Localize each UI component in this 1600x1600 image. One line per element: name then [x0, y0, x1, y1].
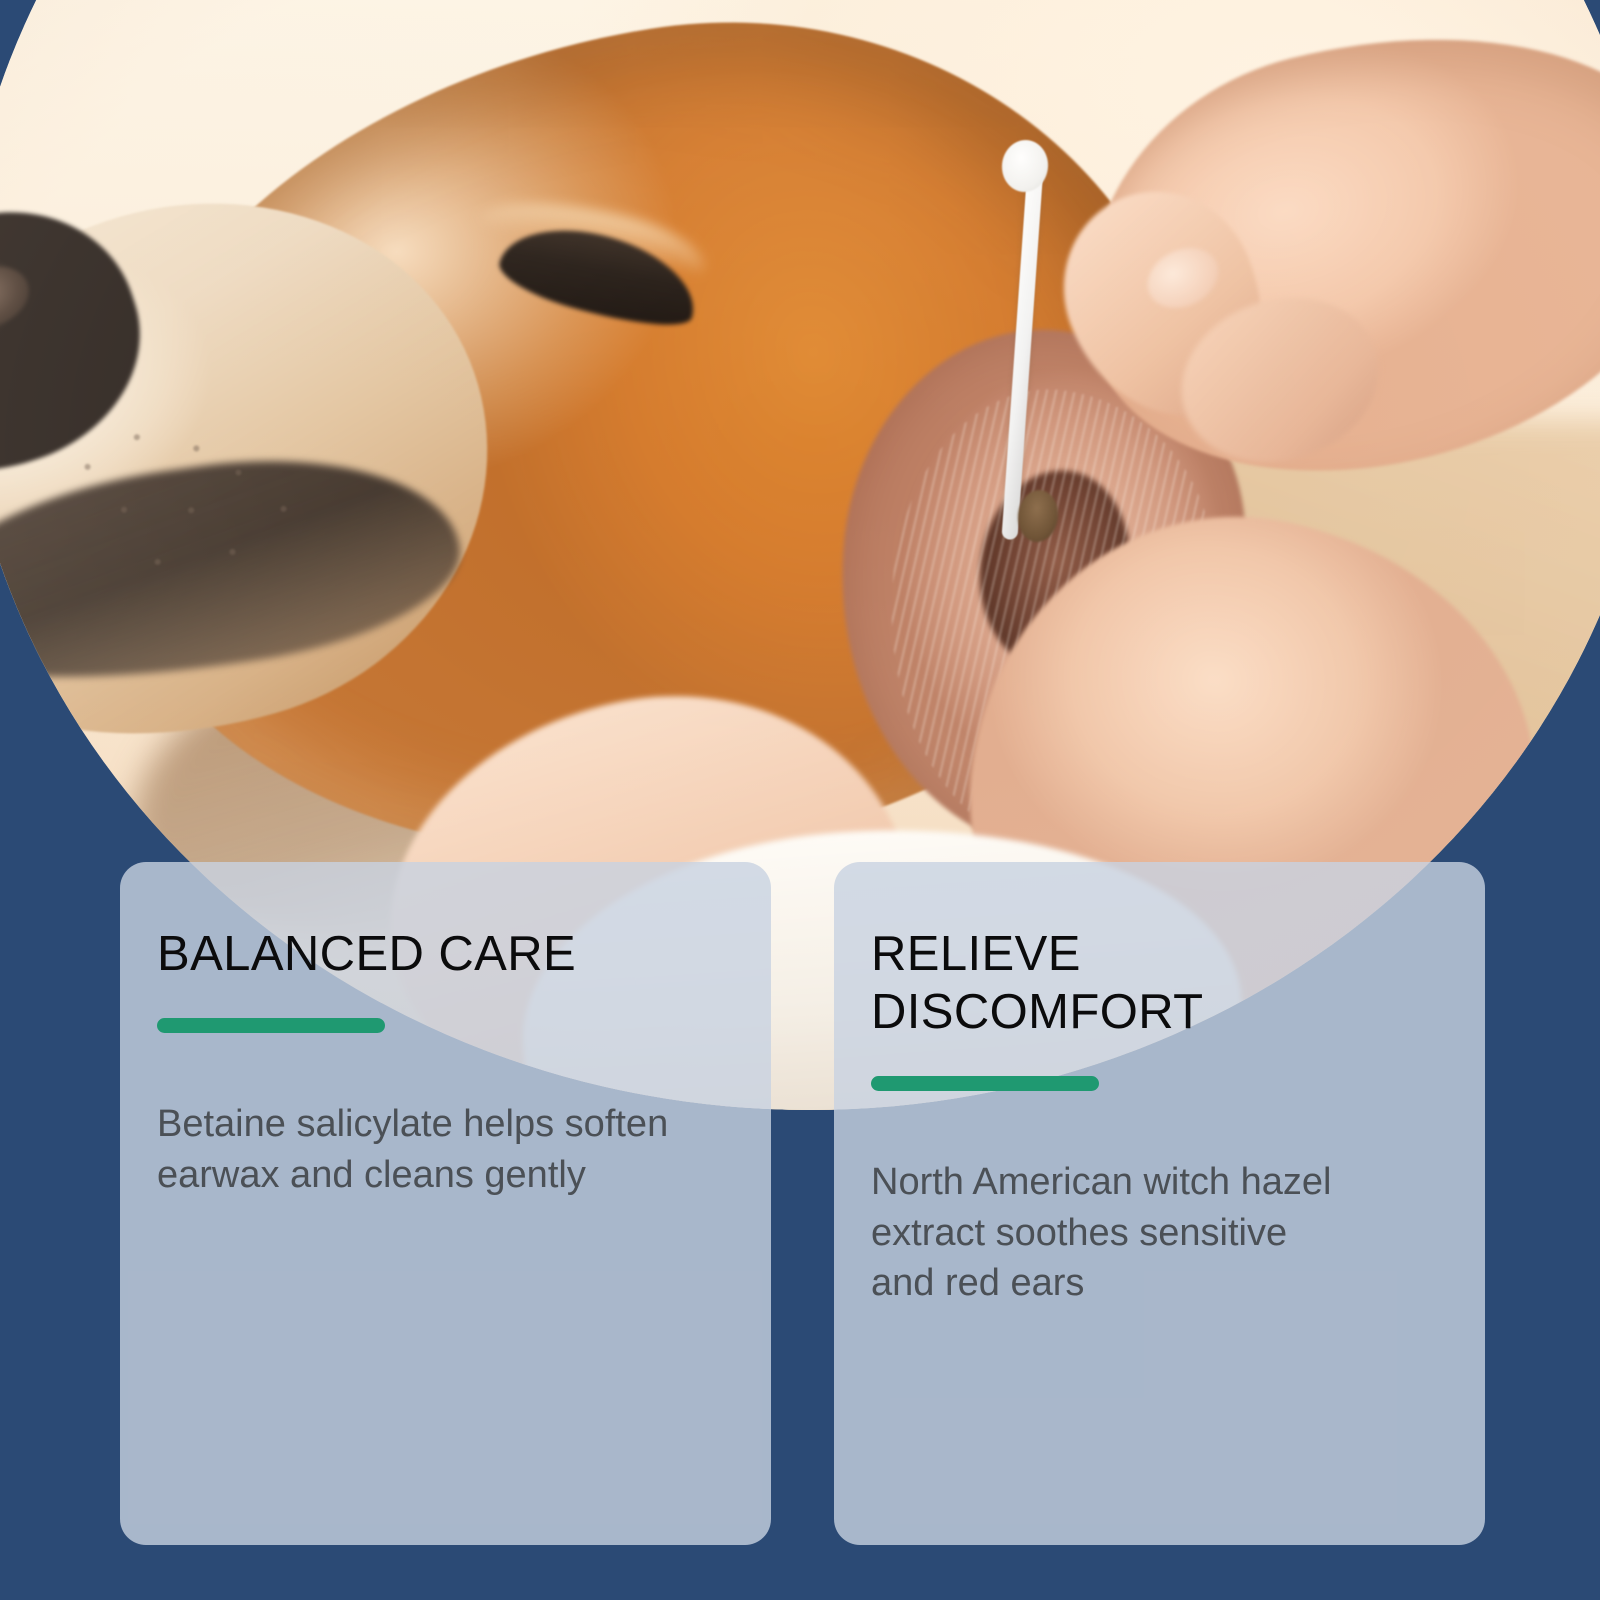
feature-card-relieve-discomfort: RELIEVE DISCOMFORT North American witch …	[834, 862, 1485, 1545]
feature-card-description: North American witch hazel extract sooth…	[871, 1157, 1351, 1310]
infographic-canvas: BALANCED CARE Betaine salicylate helps s…	[0, 0, 1600, 1600]
feature-card-title: RELIEVE DISCOMFORT	[871, 926, 1439, 1042]
feature-card-title: BALANCED CARE	[157, 926, 725, 984]
feature-card-content: BALANCED CARE Betaine salicylate helps s…	[120, 862, 771, 1545]
accent-divider-bar	[157, 1018, 385, 1033]
feature-card-description: Betaine salicylate helps soften earwax a…	[157, 1099, 697, 1201]
feature-card-balanced-care: BALANCED CARE Betaine salicylate helps s…	[120, 862, 771, 1545]
feature-card-content: RELIEVE DISCOMFORT North American witch …	[834, 862, 1485, 1545]
accent-divider-bar	[871, 1076, 1099, 1091]
